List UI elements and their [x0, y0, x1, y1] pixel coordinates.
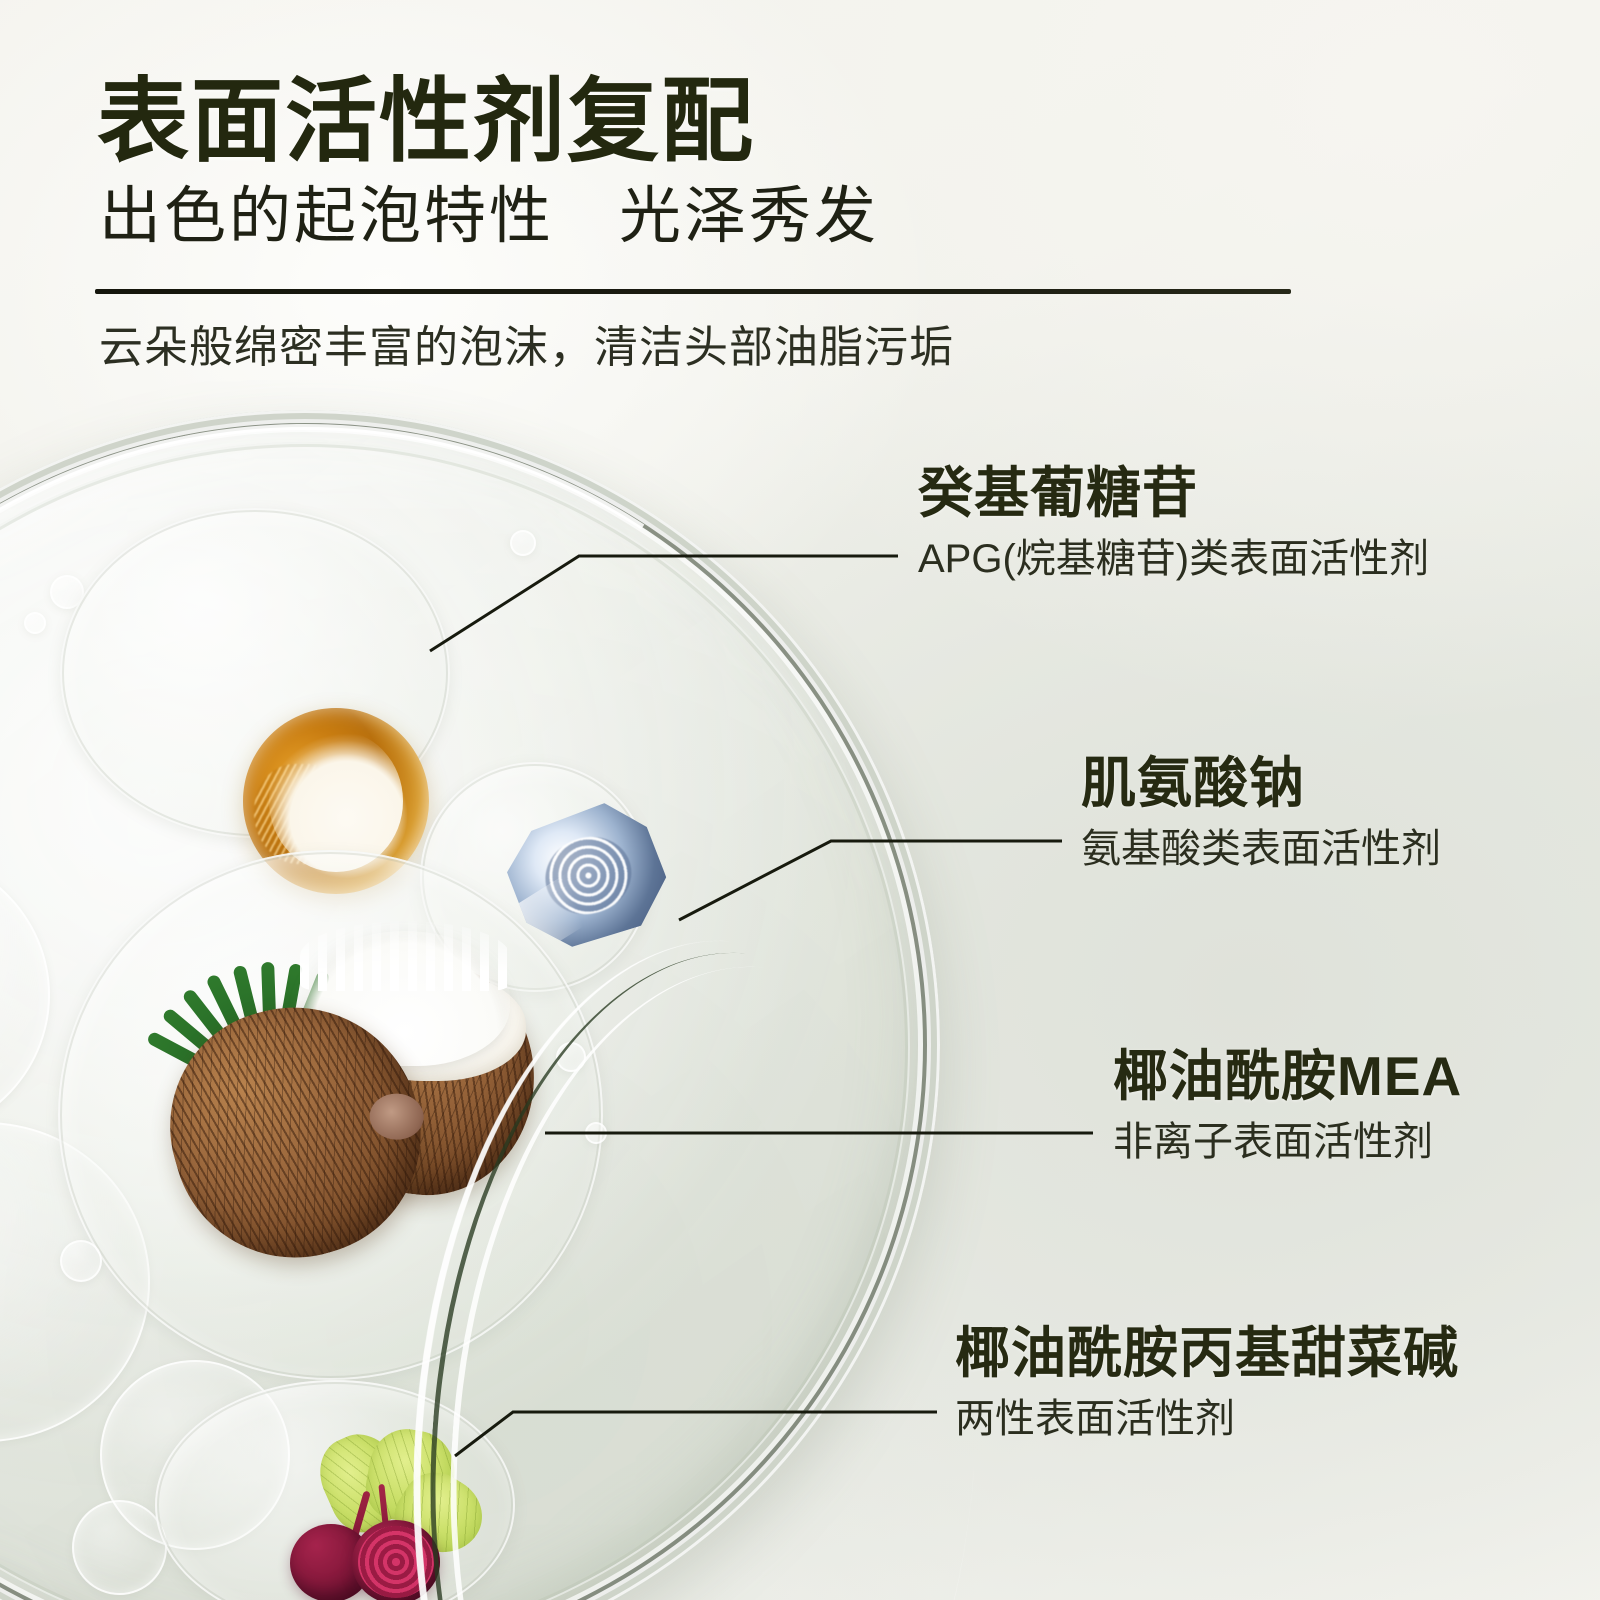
ingredient-desc: 两性表面活性剂 [955, 1397, 1459, 1441]
ingredient-name: 癸基葡糖苷 [918, 465, 1429, 523]
infographic-canvas: 表面活性剂复配 出色的起泡特性 光泽秀发 云朵般绵密丰富的泡沫，清洁头部油脂污垢… [0, 0, 1600, 1600]
well-decyl-glucoside [60, 508, 450, 838]
ingredient-name: 椰油酰胺丙基甜菜碱 [955, 1325, 1459, 1383]
bubble [24, 612, 46, 634]
ingredient-name: 椰油酰胺MEA [1113, 1048, 1462, 1106]
bubble [510, 530, 536, 556]
ingredient-name: 肌氨酸钠 [1081, 755, 1441, 813]
ingredient-desc: 非离子表面活性剂 [1113, 1120, 1462, 1164]
ingredient-desc: APG(烷基糖苷)类表面活性剂 [918, 537, 1429, 581]
ingredient-desc: 氨基酸类表面活性剂 [1081, 827, 1441, 871]
header-lead-text: 云朵般绵密丰富的泡沫，清洁头部油脂污垢 [99, 326, 954, 370]
page-title: 表面活性剂复配 [97, 76, 755, 168]
bubble [72, 1500, 167, 1595]
header-divider [95, 289, 1291, 294]
header: 表面活性剂复配 出色的起泡特性 光泽秀发 云朵般绵密丰富的泡沫，清洁头部油脂污垢 [0, 0, 1600, 400]
ingredient-label-sodium-sarcosinate: 肌氨酸钠 氨基酸类表面活性剂 [1081, 755, 1441, 871]
ingredient-label-cocamide-mea: 椰油酰胺MEA 非离子表面活性剂 [1113, 1048, 1462, 1164]
page-subtitle: 出色的起泡特性 光泽秀发 [99, 186, 879, 248]
coconut-milk-crown [300, 921, 510, 991]
ingredient-label-decyl-glucoside: 癸基葡糖苷 APG(烷基糖苷)类表面活性剂 [918, 465, 1429, 581]
ingredient-label-cocamidopropyl-betaine: 椰油酰胺丙基甜菜碱 两性表面活性剂 [955, 1325, 1459, 1441]
bubble [60, 1240, 102, 1282]
